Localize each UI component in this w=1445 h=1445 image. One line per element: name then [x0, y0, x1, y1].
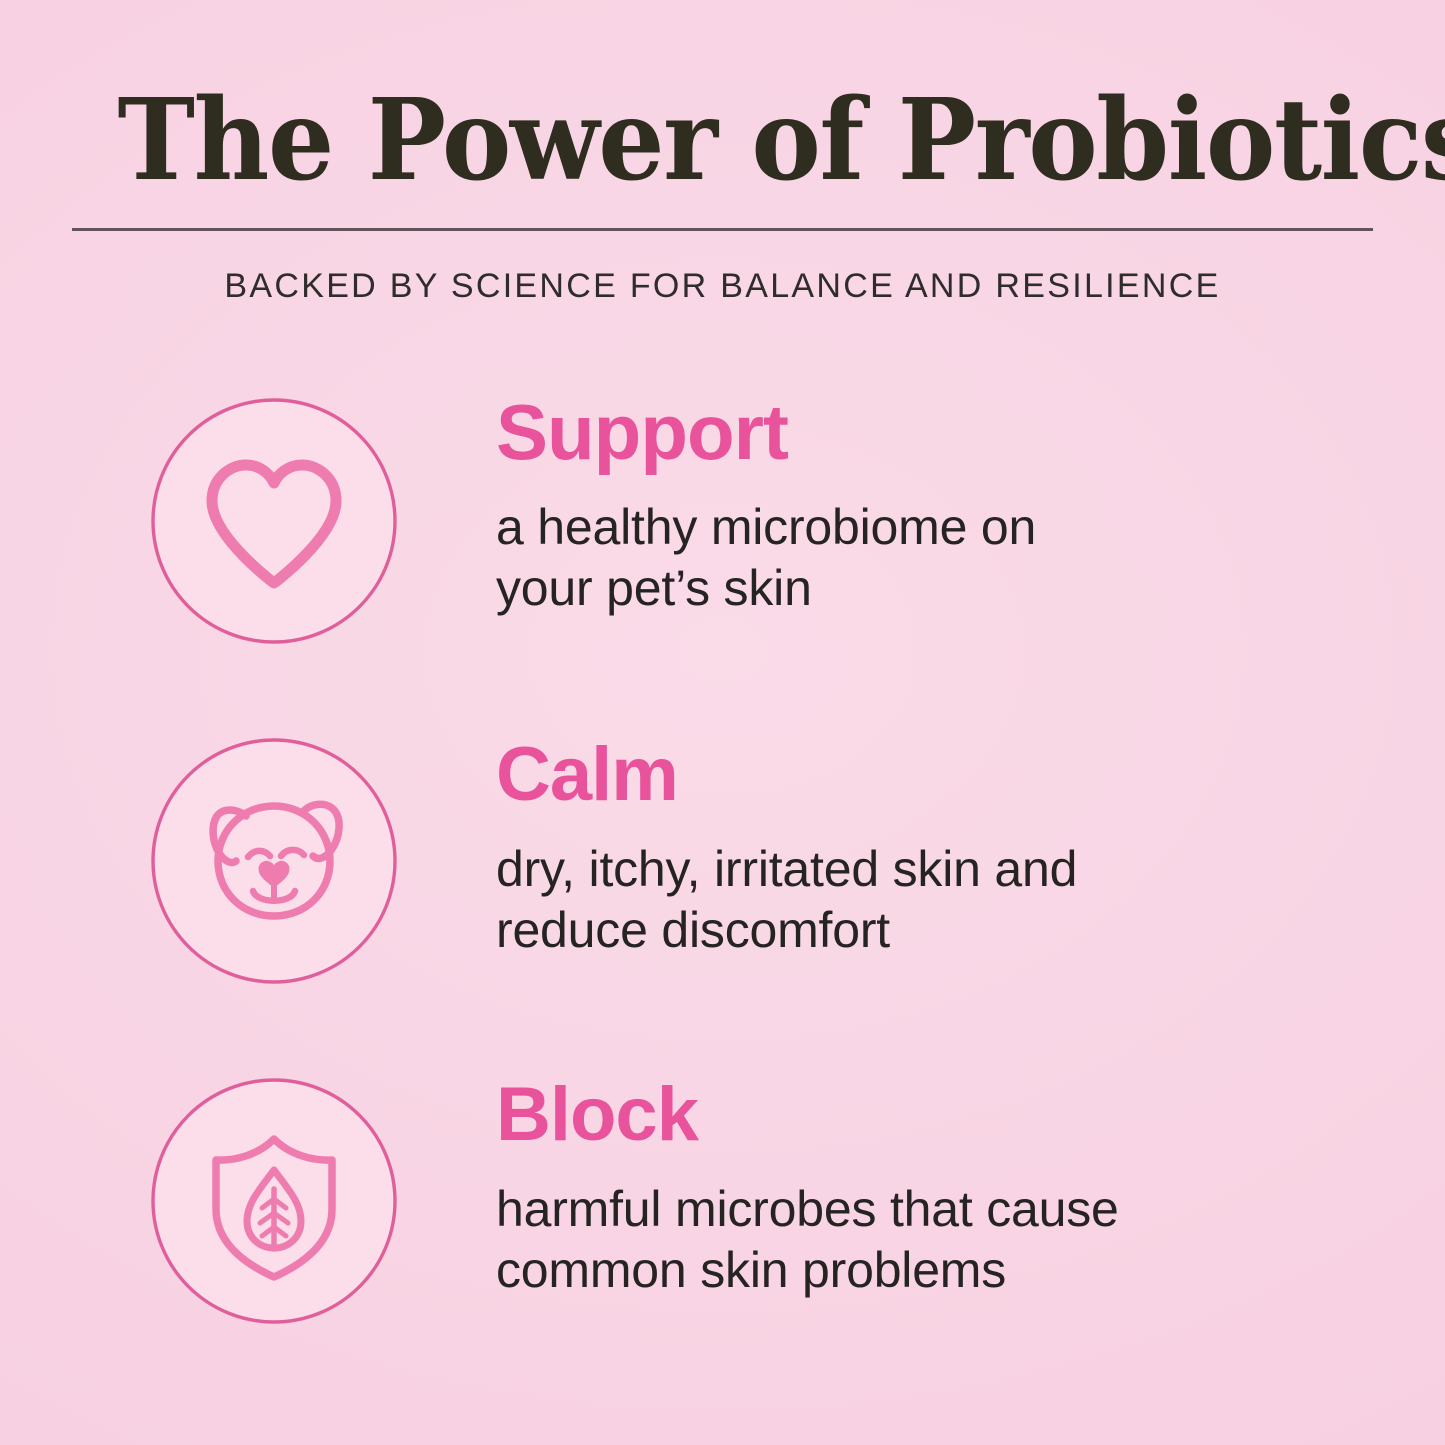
benefit-text-block: Block harmful microbes that cause common…	[398, 1063, 1385, 1301]
benefit-item-support: Support a healthy microbiome on your pet…	[150, 383, 1385, 723]
page-subtitle: BACKED BY SCIENCE FOR BALANCE AND RESILI…	[72, 267, 1373, 306]
benefit-heading: Support	[496, 393, 1385, 471]
benefit-body-line-2: common skin problems	[496, 1240, 1366, 1301]
header-divider	[72, 228, 1373, 231]
benefit-heading: Block	[496, 1077, 1385, 1153]
header: The Power of Probiotics BACKED BY SCIENC…	[0, 0, 1445, 306]
benefits-list: Support a healthy microbiome on your pet…	[0, 383, 1445, 1403]
benefit-body-line-1: harmful microbes that cause	[496, 1179, 1366, 1240]
benefit-body-line-2: reduce discomfort	[496, 900, 1366, 961]
benefit-body: harmful microbes that cause common skin …	[496, 1179, 1366, 1301]
shield-leaf-icon	[150, 1077, 398, 1325]
probiotics-infographic: The Power of Probiotics BACKED BY SCIENC…	[0, 0, 1445, 1445]
benefit-heading: Calm	[496, 737, 1385, 813]
benefit-body-line-1: dry, itchy, irritated skin and	[496, 839, 1366, 900]
benefit-body-line-2: your pet’s skin	[496, 558, 1366, 619]
benefit-icon-wrapper	[150, 737, 398, 985]
benefit-icon-wrapper	[150, 1077, 398, 1325]
benefit-body-line-1: a healthy microbiome on	[496, 497, 1366, 558]
benefit-body: a healthy microbiome on your pet’s skin	[496, 497, 1366, 619]
heart-icon	[150, 397, 398, 645]
benefit-text-block: Calm dry, itchy, irritated skin and redu…	[398, 723, 1385, 961]
benefit-body: dry, itchy, irritated skin and reduce di…	[496, 839, 1366, 961]
benefit-icon-wrapper	[150, 397, 398, 645]
benefit-item-calm: Calm dry, itchy, irritated skin and redu…	[150, 723, 1385, 1063]
benefit-item-block: Block harmful microbes that cause common…	[150, 1063, 1385, 1403]
dog-face-icon	[150, 737, 398, 985]
benefit-text-block: Support a healthy microbiome on your pet…	[398, 383, 1385, 619]
page-title: The Power of Probiotics	[118, 82, 1328, 200]
